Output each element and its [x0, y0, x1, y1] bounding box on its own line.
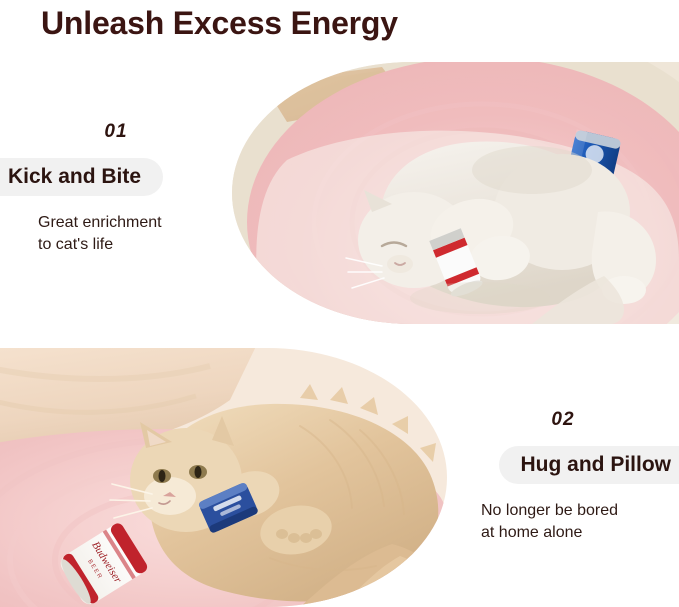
feature-description-01: Great enrichment to cat's life [0, 212, 232, 256]
feature-photo-kick-and-bite: PURR LIGHT [232, 62, 679, 324]
feature-block-01: 01 Kick and Bite Great enrichment to cat… [0, 120, 232, 256]
feature-badge-wrap-02: Hug and Pillow [447, 446, 679, 484]
page-title: Unleash Excess Energy [41, 0, 398, 46]
feature-badge-02: Hug and Pillow [499, 446, 679, 484]
golden-fluffy-cat-with-can-toys-illustration: Budweiser BEER [0, 348, 447, 607]
feature-photo-hug-and-pillow: Budweiser BEER [0, 348, 447, 607]
feature-description-02: No longer be bored at home alone [447, 500, 679, 544]
feature-number-02: 02 [447, 408, 679, 432]
feature-number-01: 01 [0, 120, 232, 144]
white-cat-hugging-can-toy-illustration: PURR LIGHT [232, 62, 679, 324]
feature-badge-wrap-01: Kick and Bite [0, 158, 232, 196]
feature-badge-01: Kick and Bite [0, 158, 163, 196]
feature-block-02: 02 Hug and Pillow No longer be bored at … [447, 408, 679, 544]
product-feature-panel: Unleash Excess Energy [0, 0, 679, 607]
